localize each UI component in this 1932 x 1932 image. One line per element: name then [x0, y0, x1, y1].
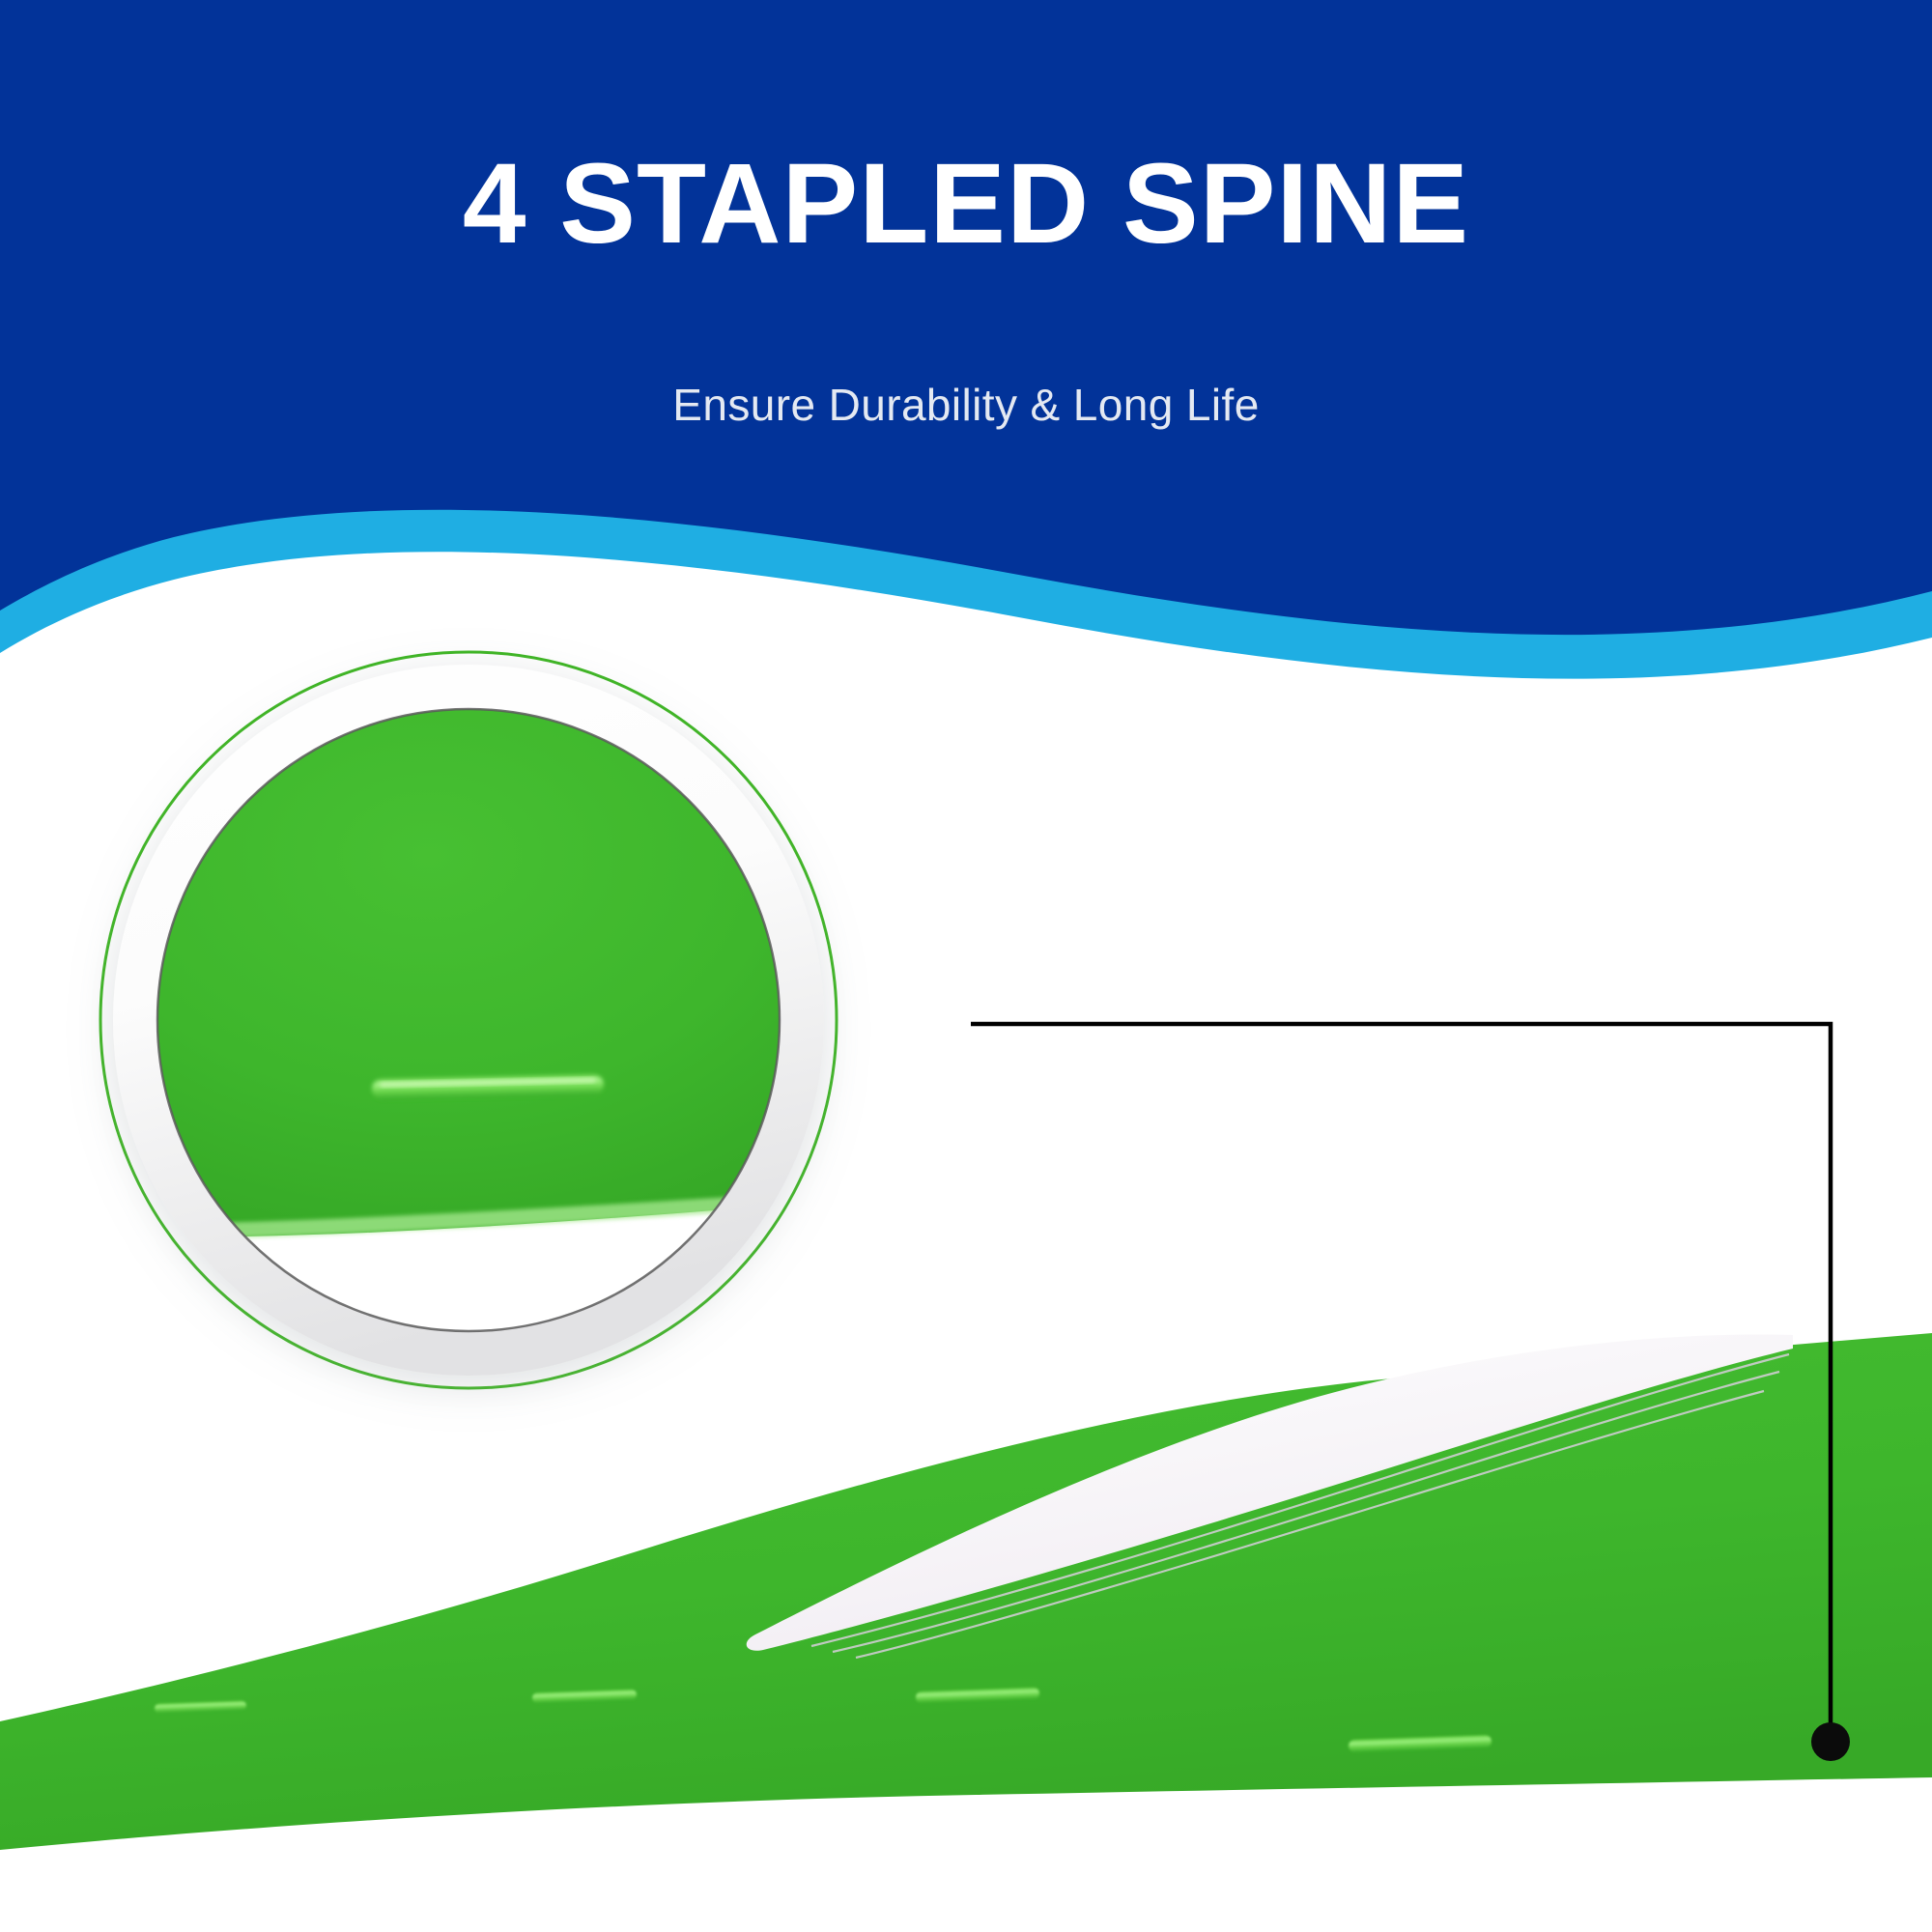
magnifier-lens — [0, 0, 1932, 1932]
infographic-canvas: 4 STAPLED SPINE Ensure Durability & Long… — [0, 0, 1932, 1932]
